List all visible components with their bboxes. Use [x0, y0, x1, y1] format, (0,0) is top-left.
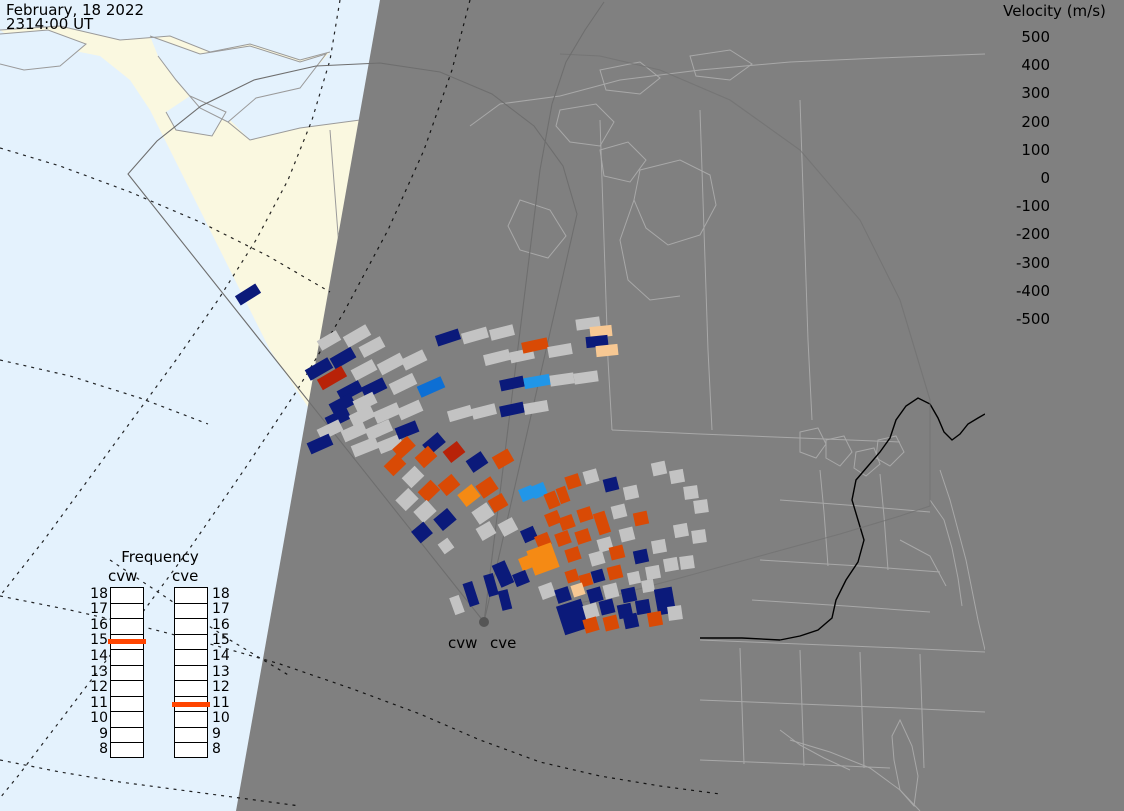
frequency-scale-label-right: 18 [212, 586, 230, 602]
frequency-scale-label-right: 8 [212, 741, 221, 757]
frequency-cell [111, 728, 143, 744]
colorbar-title: Velocity (m/s) [985, 2, 1124, 20]
frequency-cell [175, 619, 207, 635]
frequency-cell [111, 681, 143, 697]
velocity-cell[interactable] [621, 587, 638, 604]
colorbar-tick--100: -100 [990, 197, 1050, 215]
colorbar-tick--200: -200 [990, 225, 1050, 243]
ground-scatter-cell[interactable] [663, 557, 679, 572]
frequency-cell [175, 588, 207, 604]
frequency-scale-label-right: 9 [212, 726, 221, 742]
frequency-scale-label-right: 13 [212, 664, 230, 680]
ground-scatter-cell[interactable] [651, 539, 667, 554]
ground-scatter-cell[interactable] [627, 571, 641, 585]
colorbar-tick-200: 200 [990, 113, 1050, 131]
colorbar-panel: Velocity (m/s) 5004003002001000-100-200-… [985, 0, 1124, 811]
frequency-scale-label-left: 9 [90, 726, 108, 742]
map-canvas[interactable]: February, 18 2022 2314:00 UT cvw cve Fre… [0, 0, 985, 811]
velocity-cell[interactable] [595, 344, 618, 357]
frequency-cell [111, 712, 143, 728]
frequency-scale-label-left: 16 [90, 617, 108, 633]
frequency-cell [175, 666, 207, 682]
ground-scatter-cell[interactable] [641, 579, 655, 593]
frequency-marker-cvw [108, 639, 146, 644]
frequency-bar-cvw [110, 587, 144, 758]
frequency-scale-label-left: 17 [90, 601, 108, 617]
frequency-legend: Frequency cvw cve 1818171716161515141413… [90, 548, 230, 788]
frequency-bar-cve [174, 587, 208, 758]
ground-scatter-cell[interactable] [645, 565, 661, 580]
colorbar-tick-500: 500 [990, 28, 1050, 46]
frequency-scale-label-right: 10 [212, 710, 230, 726]
radar-label-cve: cve [490, 634, 516, 652]
colorbar-tick-400: 400 [990, 56, 1050, 74]
frequency-cell [111, 588, 143, 604]
velocity-cell[interactable] [623, 613, 640, 630]
frequency-scale-label-left: 12 [90, 679, 108, 695]
superdarn-velocity-map: February, 18 2022 2314:00 UT cvw cve Fre… [0, 0, 1124, 811]
colorbar-tick-300: 300 [990, 84, 1050, 102]
frequency-col-head-cvw: cvw [108, 567, 137, 585]
frequency-cell [111, 697, 143, 713]
colorbar-tick-100: 100 [990, 141, 1050, 159]
colorbar-tick--400: -400 [990, 282, 1050, 300]
ground-scatter-cell[interactable] [673, 523, 689, 538]
frequency-cell [175, 635, 207, 651]
frequency-scale-label-left: 15 [90, 632, 108, 648]
ground-scatter-cell[interactable] [683, 485, 699, 500]
frequency-scale-label-left: 8 [90, 741, 108, 757]
frequency-scale-label-left: 11 [90, 695, 108, 711]
time-label: 2314:00 UT [6, 15, 93, 33]
frequency-scale-label-left: 10 [90, 710, 108, 726]
ground-scatter-cell[interactable] [679, 555, 695, 570]
frequency-cell [175, 728, 207, 744]
ground-scatter-cell[interactable] [691, 529, 707, 544]
frequency-col-head-cve: cve [172, 567, 198, 585]
frequency-cell [111, 743, 143, 759]
frequency-title: Frequency [90, 548, 230, 566]
velocity-cell[interactable] [647, 611, 663, 627]
frequency-cell [175, 681, 207, 697]
frequency-cell [111, 604, 143, 620]
frequency-scale-label-right: 15 [212, 632, 230, 648]
frequency-marker-cve [172, 702, 210, 707]
frequency-cell [111, 619, 143, 635]
frequency-cell [175, 604, 207, 620]
colorbar-tick-0: 0 [990, 169, 1050, 187]
colorbar-tick--500: -500 [990, 310, 1050, 328]
ground-scatter-cell[interactable] [667, 605, 683, 621]
ground-scatter-cell[interactable] [669, 469, 685, 484]
frequency-scale-label-right: 16 [212, 617, 230, 633]
frequency-scale-label-right: 11 [212, 695, 230, 711]
frequency-scale-label-left: 14 [90, 648, 108, 664]
radar-site-marker [479, 617, 489, 627]
frequency-cell [175, 743, 207, 759]
colorbar-tick--300: -300 [990, 254, 1050, 272]
ground-scatter-cell[interactable] [693, 499, 709, 514]
frequency-scale-label-left: 13 [90, 664, 108, 680]
frequency-cell [111, 666, 143, 682]
frequency-scale-label-left: 18 [90, 586, 108, 602]
frequency-cell [175, 712, 207, 728]
frequency-scale-label-right: 12 [212, 679, 230, 695]
radar-label-cvw: cvw [448, 634, 477, 652]
frequency-cell [111, 650, 143, 666]
velocity-cell[interactable] [635, 599, 651, 615]
frequency-cell [175, 650, 207, 666]
frequency-scale-label-right: 14 [212, 648, 230, 664]
frequency-scale-label-right: 17 [212, 601, 230, 617]
